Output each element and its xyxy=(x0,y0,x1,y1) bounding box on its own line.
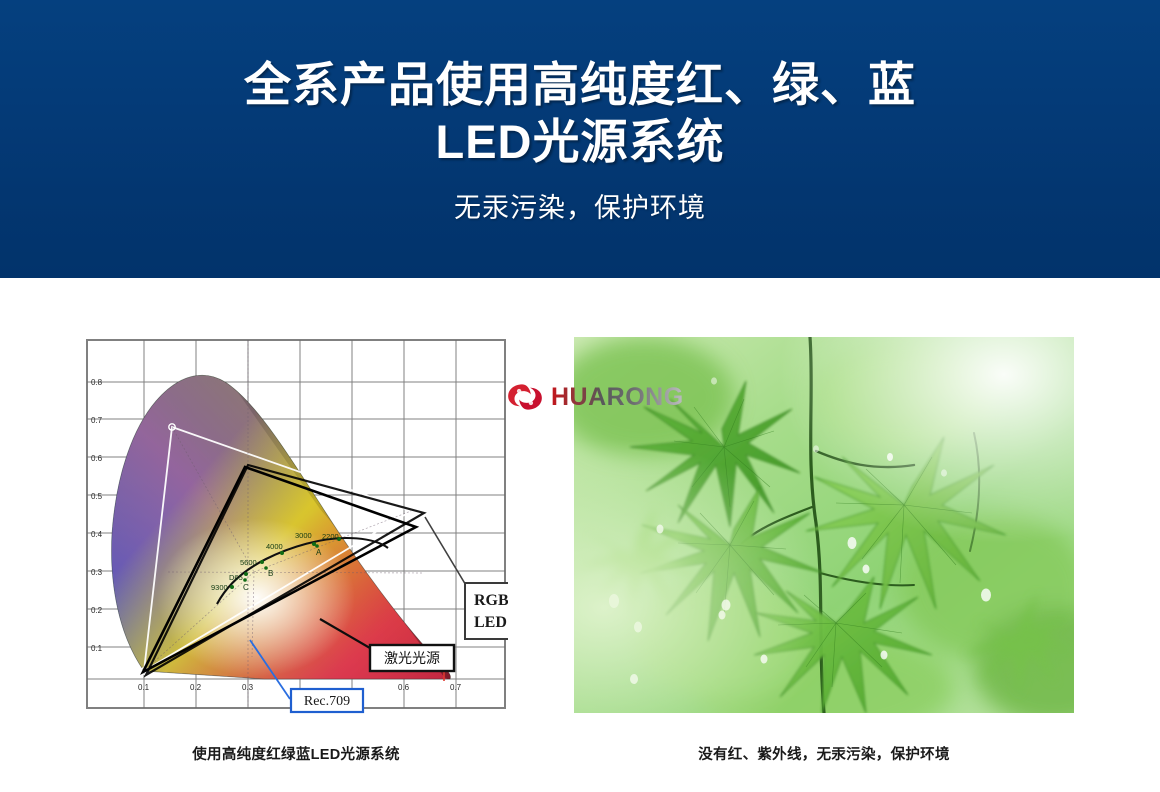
laser-label: 激光光源 xyxy=(384,650,440,666)
content-area: 2200 3000 4000 5600 D65 9300 A B C 0.8 0… xyxy=(0,278,1160,792)
svg-text:0.7: 0.7 xyxy=(91,416,103,425)
locus-label-d65: D65 xyxy=(229,573,243,582)
locus-label-9300: 9300 xyxy=(211,583,228,592)
svg-text:0.8: 0.8 xyxy=(91,378,103,387)
locus-label-2200: 2200 xyxy=(322,532,339,541)
right-panel-caption: 没有红、紫外线，无汞污染，保护环境 xyxy=(574,743,1074,764)
svg-text:0.4: 0.4 xyxy=(91,530,103,539)
leaf-photo xyxy=(574,337,1074,713)
svg-text:0.3: 0.3 xyxy=(242,683,254,692)
svg-text:0.1: 0.1 xyxy=(138,683,150,692)
rec709-label: Rec.709 xyxy=(304,694,350,709)
rgb-led-callout[interactable]: RGB LED xyxy=(465,583,508,639)
leaf-photo-svg xyxy=(574,337,1074,713)
page-subtitle: 无汞污染，保护环境 xyxy=(0,191,1160,225)
rec709-callout[interactable]: Rec.709 xyxy=(291,689,363,712)
laser-callout[interactable]: 激光光源 xyxy=(370,645,454,671)
page-title: 全系产品使用高纯度红、绿、蓝 LED光源系统 xyxy=(0,56,1160,170)
rgb-led-label-line1: RGB xyxy=(474,592,508,609)
illuminant-label-c: C xyxy=(243,583,249,592)
header-banner: 全系产品使用高纯度红、绿、蓝 LED光源系统 无汞污染，保护环境 xyxy=(0,0,1160,278)
svg-text:0.2: 0.2 xyxy=(190,683,202,692)
locus-label-5600: 5600 xyxy=(240,558,257,567)
locus-label-4000: 4000 xyxy=(266,542,283,551)
svg-text:0.6: 0.6 xyxy=(91,454,103,463)
highlight-glow-bottom-left xyxy=(574,337,1074,713)
svg-text:0.7: 0.7 xyxy=(450,683,462,692)
svg-text:0.2: 0.2 xyxy=(91,606,103,615)
illuminant-label-b: B xyxy=(268,569,273,578)
svg-text:0.5: 0.5 xyxy=(91,492,103,501)
svg-text:0.3: 0.3 xyxy=(91,568,103,577)
cie-diagram-svg: 2200 3000 4000 5600 D65 9300 A B C 0.8 0… xyxy=(84,337,508,715)
rgb-led-label-line2: LED xyxy=(474,614,507,631)
illuminant-label-a: A xyxy=(316,548,322,557)
cie-chromaticity-diagram: 2200 3000 4000 5600 D65 9300 A B C 0.8 0… xyxy=(84,337,508,715)
left-panel-caption: 使用高纯度红绿蓝LED光源系统 xyxy=(84,743,508,764)
svg-text:0.1: 0.1 xyxy=(91,644,103,653)
huarong-swirl-icon xyxy=(506,381,544,413)
svg-text:0.6: 0.6 xyxy=(398,683,410,692)
locus-label-3000: 3000 xyxy=(295,531,312,540)
